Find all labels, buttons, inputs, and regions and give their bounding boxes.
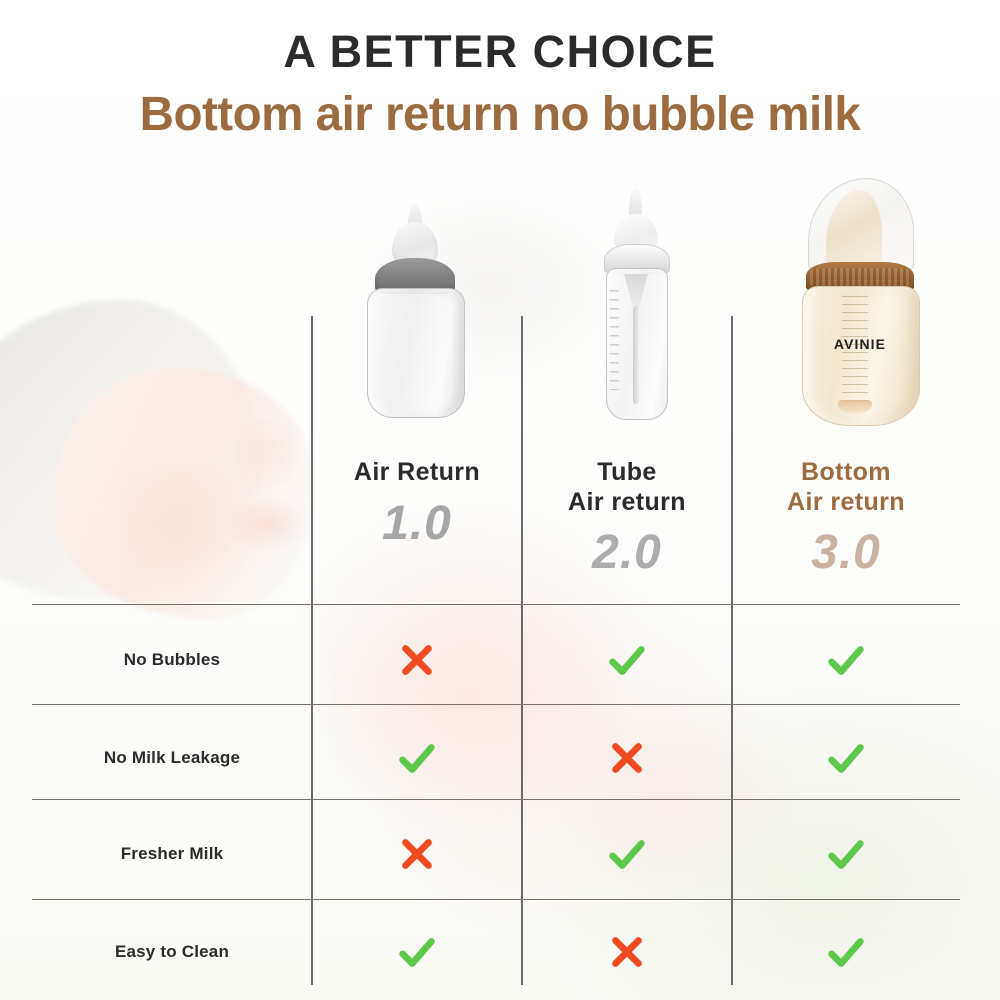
row-label: No Milk Leakage — [32, 748, 312, 768]
check-icon — [604, 637, 650, 683]
row-label: Easy to Clean — [32, 942, 312, 962]
row-label: No Bubbles — [32, 650, 312, 670]
cell-check — [522, 831, 732, 877]
cell-cross — [522, 735, 732, 781]
cell-check — [732, 831, 960, 877]
check-icon — [823, 637, 869, 683]
cell-cross — [312, 831, 522, 877]
table-row: No Milk Leakage — [32, 710, 960, 805]
comparison-infographic: A BETTER CHOICE Bottom air return no bub… — [0, 0, 1000, 1000]
cell-check — [732, 735, 960, 781]
cell-check — [312, 735, 522, 781]
table-row: Fresher Milk — [32, 806, 960, 901]
cell-check — [522, 637, 732, 683]
cell-cross — [312, 637, 522, 683]
cross-icon — [394, 831, 440, 877]
cell-cross — [522, 929, 732, 975]
table-row: Easy to Clean — [32, 904, 960, 999]
row-label: Fresher Milk — [32, 844, 312, 864]
check-icon — [394, 735, 440, 781]
cross-icon — [604, 929, 650, 975]
check-icon — [823, 929, 869, 975]
check-icon — [604, 831, 650, 877]
cell-check — [312, 929, 522, 975]
cross-icon — [394, 637, 440, 683]
check-icon — [823, 831, 869, 877]
cross-icon — [604, 735, 650, 781]
check-icon — [394, 929, 440, 975]
cell-check — [732, 637, 960, 683]
check-icon — [823, 735, 869, 781]
comparison-rows: No BubblesNo Milk LeakageFresher MilkEas… — [0, 0, 1000, 1000]
cell-check — [732, 929, 960, 975]
table-row: No Bubbles — [32, 612, 960, 707]
